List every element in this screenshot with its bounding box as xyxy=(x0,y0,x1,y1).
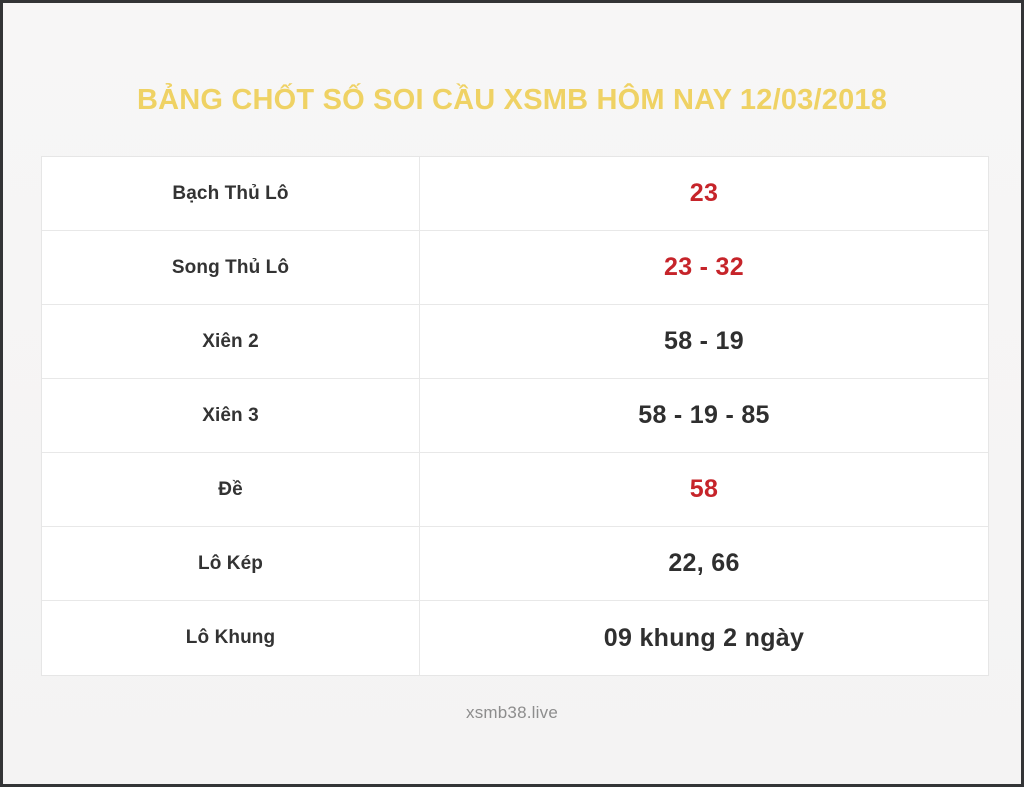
row-value: 23 xyxy=(420,157,988,230)
row-value: 22, 66 xyxy=(420,527,988,600)
row-label: Lô Khung xyxy=(42,601,420,675)
row-value: 58 xyxy=(420,453,988,526)
row-label: Lô Kép xyxy=(42,527,420,600)
row-label: Bạch Thủ Lô xyxy=(42,157,420,230)
table-row: Lô Kép 22, 66 xyxy=(42,527,988,601)
page-title: BẢNG CHỐT SỐ SOI CẦU XSMB HÔM NAY 12/03/… xyxy=(3,82,1021,118)
row-label: Song Thủ Lô xyxy=(42,231,420,304)
table-row: Đề 58 xyxy=(42,453,988,527)
prediction-table: Bạch Thủ Lô 23 Song Thủ Lô 23 - 32 Xiên … xyxy=(41,156,989,676)
table-row: Bạch Thủ Lô 23 xyxy=(42,157,988,231)
row-label: Xiên 3 xyxy=(42,379,420,452)
screenshot-frame: BẢNG CHỐT SỐ SOI CẦU XSMB HÔM NAY 12/03/… xyxy=(0,0,1024,787)
row-value: 09 khung 2 ngày xyxy=(420,601,988,675)
table-row: Xiên 2 58 - 19 xyxy=(42,305,988,379)
row-value: 58 - 19 xyxy=(420,305,988,378)
table-row: Song Thủ Lô 23 - 32 xyxy=(42,231,988,305)
page-background: BẢNG CHỐT SỐ SOI CẦU XSMB HÔM NAY 12/03/… xyxy=(3,3,1021,784)
row-label: Xiên 2 xyxy=(42,305,420,378)
table-row: Lô Khung 09 khung 2 ngày xyxy=(42,601,988,675)
table-row: Xiên 3 58 - 19 - 85 xyxy=(42,379,988,453)
site-watermark: xsmb38.live xyxy=(3,703,1021,723)
row-label: Đề xyxy=(42,453,420,526)
row-value: 23 - 32 xyxy=(420,231,988,304)
row-value: 58 - 19 - 85 xyxy=(420,379,988,452)
